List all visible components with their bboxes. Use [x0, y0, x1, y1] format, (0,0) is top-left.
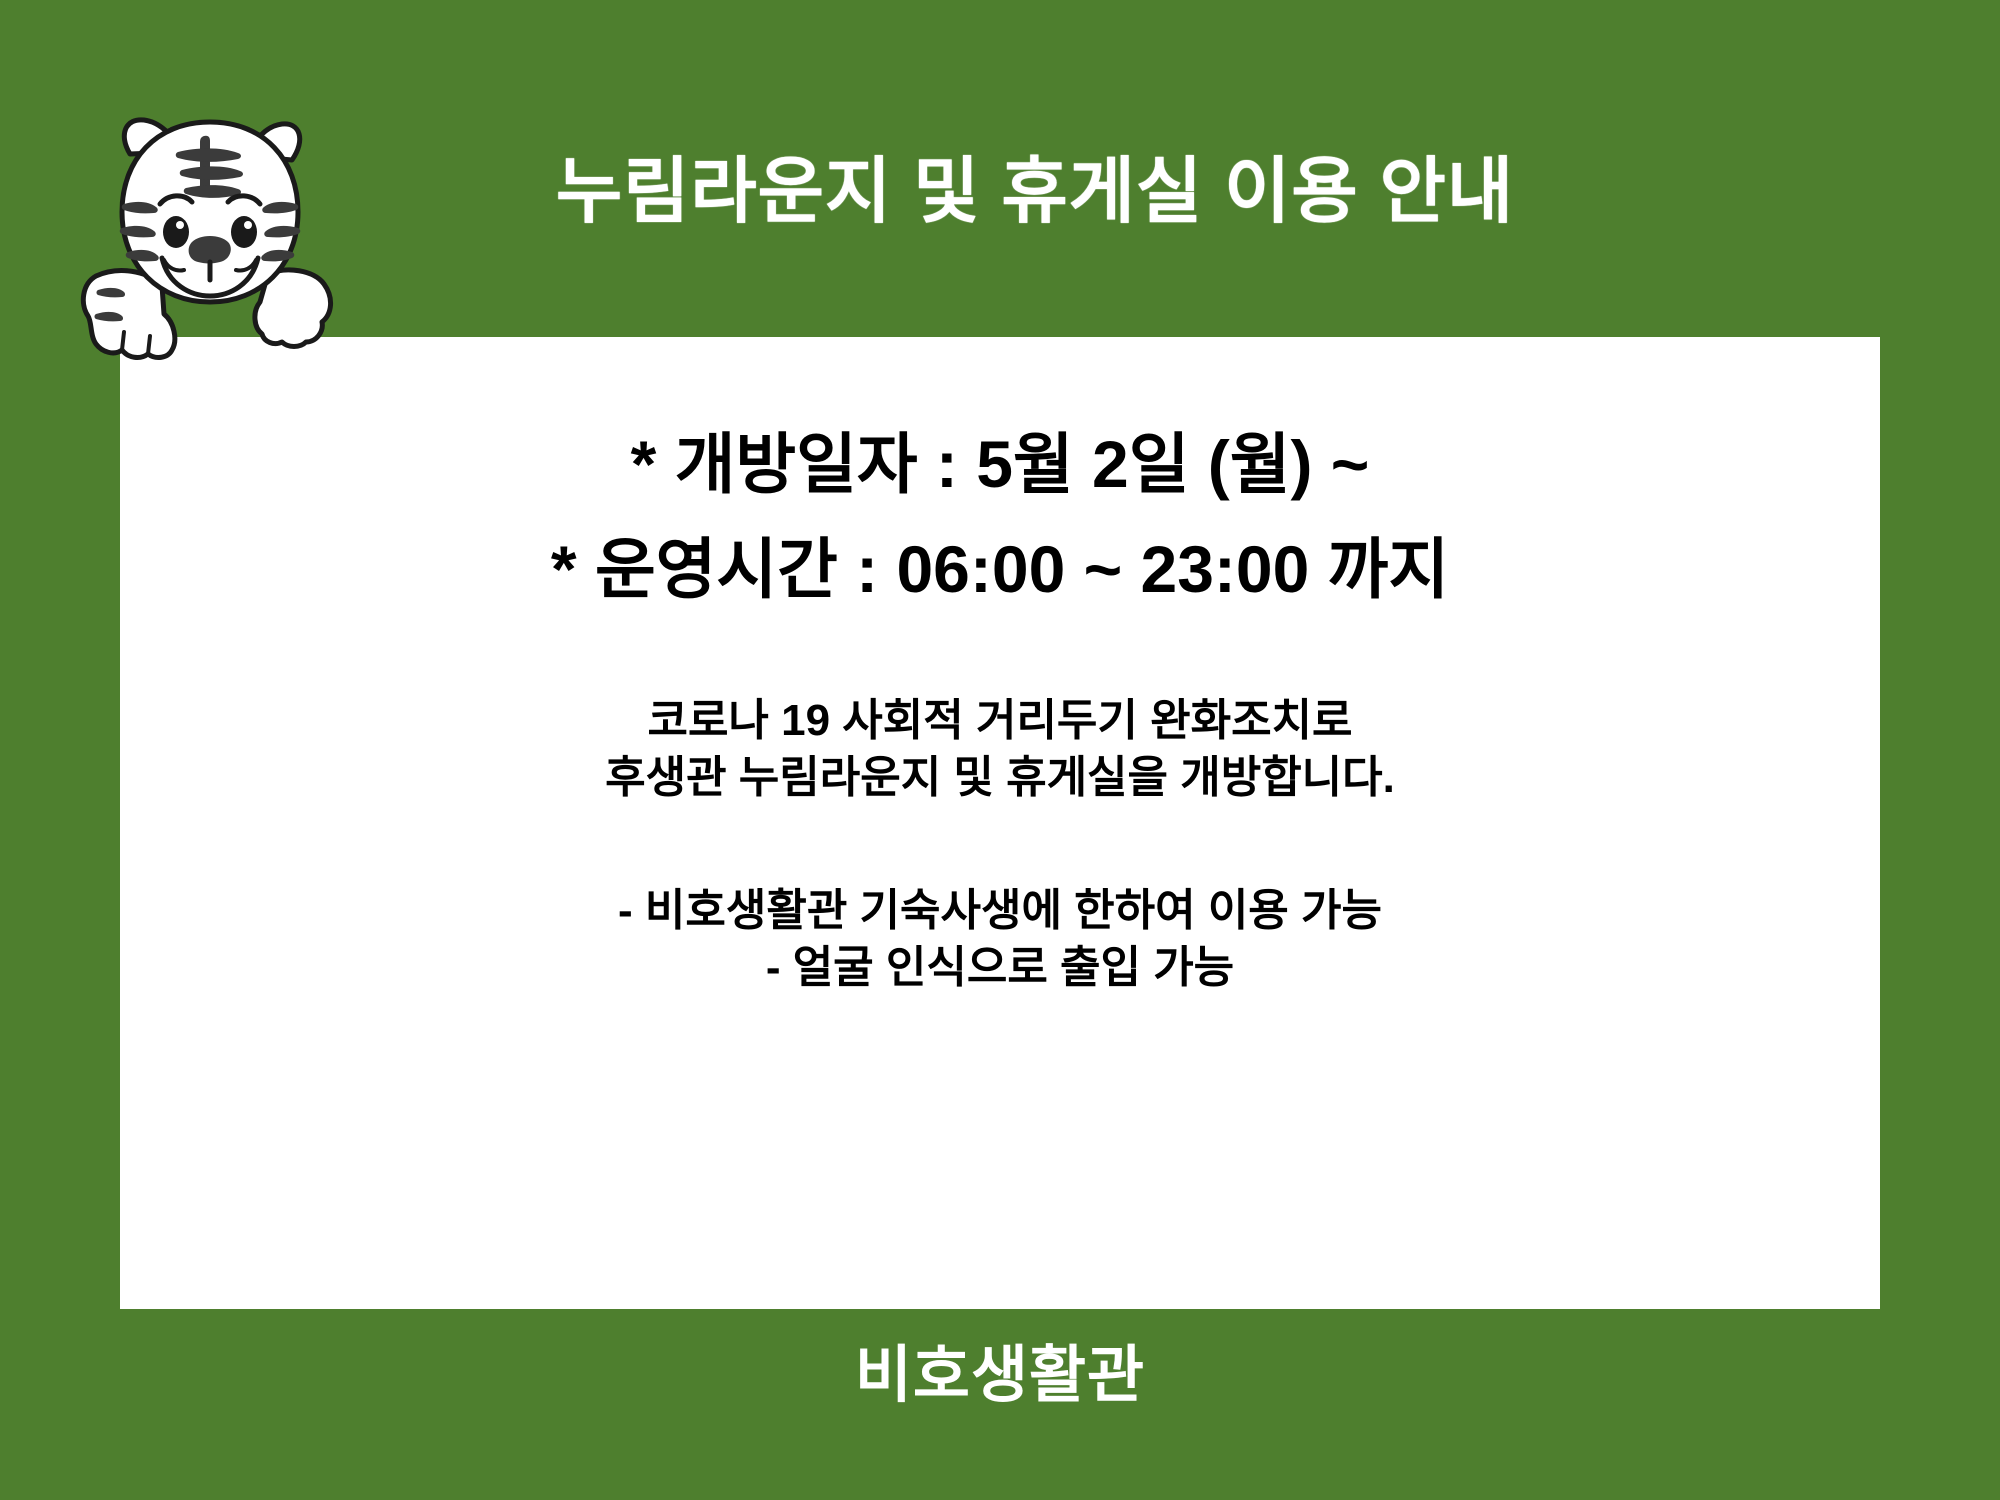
conditions-list: - 비호생활관 기숙사생에 한하여 이용 가능 - 얼굴 인식으로 출입 가능 — [618, 882, 1382, 996]
body-paragraph-line-2: 후생관 누림라운지 및 휴게실을 개방합니다. — [605, 749, 1395, 806]
condition-item-2: - 얼굴 인식으로 출입 가능 — [618, 939, 1382, 996]
open-date-line: * 개방일자 : 5월 2일 (월) ~ — [631, 429, 1370, 500]
notice-poster: 누림라운지 및 휴게실 이용 안내 — [0, 0, 2000, 1500]
page-title: 누림라운지 및 휴게실 이용 안내 — [556, 156, 1514, 228]
footer-organization-name: 비호생활관 — [855, 1341, 1145, 1410]
open-hours-line: * 운영시간 : 06:00 ~ 23:00 까지 — [551, 534, 1449, 605]
body-paragraph: 코로나 19 사회적 거리두기 완화조치로 후생관 누림라운지 및 휴게실을 개… — [605, 692, 1395, 806]
white-tiger-mascot-icon — [78, 108, 338, 376]
condition-item-1: - 비호생활관 기숙사생에 한하여 이용 가능 — [618, 882, 1382, 939]
body-paragraph-line-1: 코로나 19 사회적 거리두기 완화조치로 — [605, 692, 1395, 749]
footer: 비호생활관 — [0, 1345, 2000, 1407]
notice-content-panel: * 개방일자 : 5월 2일 (월) ~ * 운영시간 : 06:00 ~ 23… — [120, 337, 1880, 1309]
